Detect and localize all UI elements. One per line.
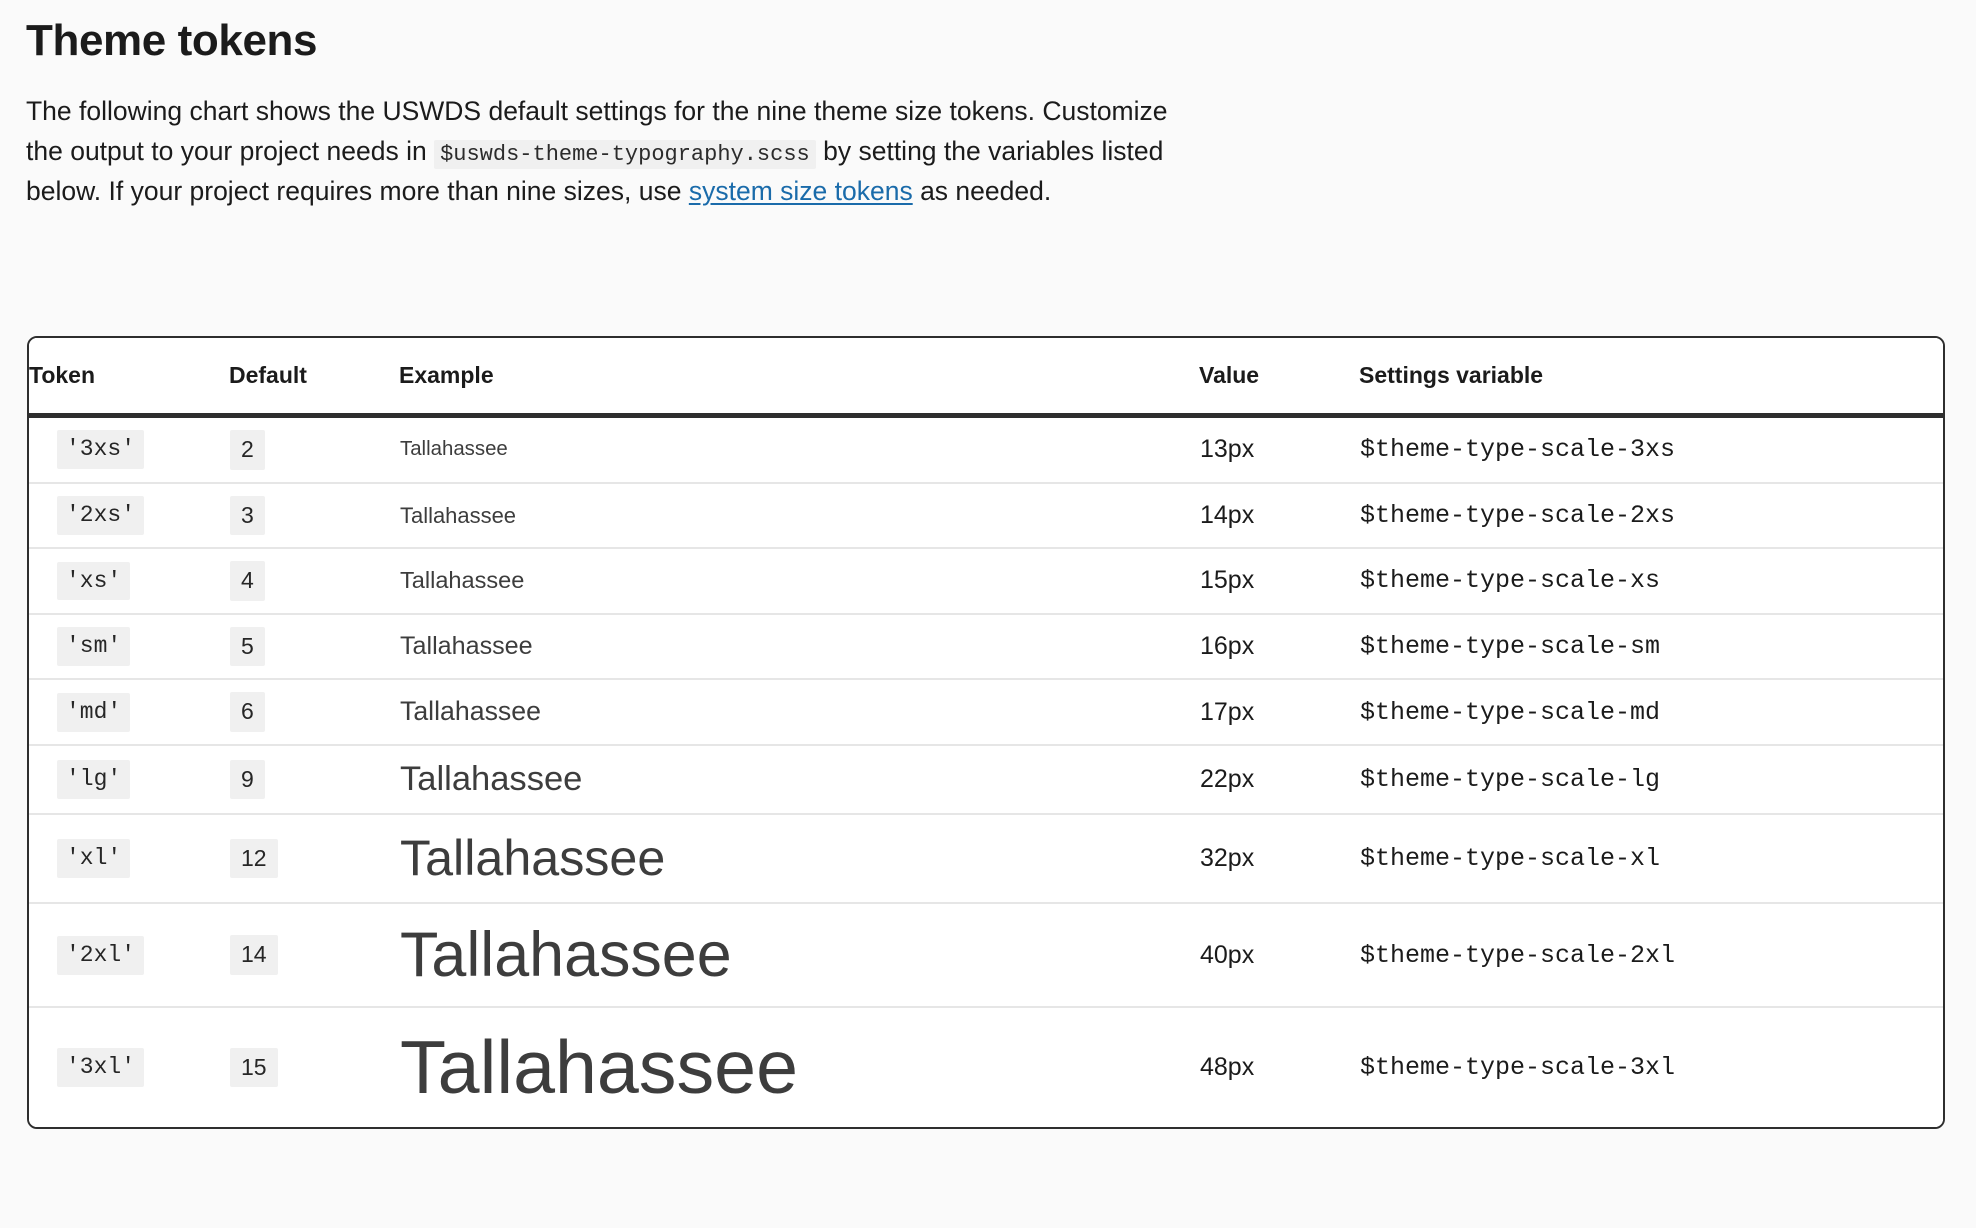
cell-token: '2xl': [29, 903, 229, 1007]
settings-variable-text: $theme-type-scale-md: [1360, 698, 1660, 727]
cell-example: Tallahassee: [399, 483, 1199, 549]
token-chip: '2xl': [57, 936, 144, 975]
example-sample-text: Tallahassee: [400, 1025, 798, 1109]
example-sample-text: Tallahassee: [400, 632, 533, 660]
default-chip: 2: [230, 430, 265, 470]
value-text: 48px: [1200, 1053, 1254, 1081]
cell-token: 'xl': [29, 814, 229, 903]
settings-variable-text: $theme-type-scale-xs: [1360, 566, 1660, 595]
cell-token: '2xs': [29, 483, 229, 549]
cell-value: 32px: [1199, 814, 1359, 903]
example-sample-text: Tallahassee: [400, 438, 508, 460]
default-chip: 15: [230, 1048, 278, 1088]
value-text: 13px: [1200, 435, 1254, 463]
cell-token: 'lg': [29, 745, 229, 814]
default-chip: 12: [230, 839, 278, 879]
table-header-row: Token Default Example Value Settings var…: [29, 338, 1943, 416]
default-chip: 14: [230, 935, 278, 975]
settings-variable-text: $theme-type-scale-lg: [1360, 765, 1660, 794]
token-chip: '2xs': [57, 496, 144, 535]
settings-variable-text: $theme-type-scale-3xs: [1360, 435, 1675, 464]
cell-settings-variable: $theme-type-scale-3xs: [1359, 416, 1943, 483]
cell-example: Tallahassee: [399, 814, 1199, 903]
cell-value: 16px: [1199, 614, 1359, 680]
cell-default: 15: [229, 1007, 399, 1126]
cell-settings-variable: $theme-type-scale-2xl: [1359, 903, 1943, 1007]
cell-settings-variable: $theme-type-scale-lg: [1359, 745, 1943, 814]
cell-value: 14px: [1199, 483, 1359, 549]
theme-tokens-table: Token Default Example Value Settings var…: [29, 338, 1943, 1127]
column-header-example: Example: [399, 338, 1199, 416]
table-row: '3xl'15Tallahassee48px$theme-type-scale-…: [29, 1007, 1943, 1126]
cell-token: 'md': [29, 679, 229, 745]
intro-text-part3: as needed.: [913, 176, 1052, 206]
token-chip: 'md': [57, 693, 130, 732]
table-row: 'xl'12Tallahassee32px$theme-type-scale-x…: [29, 814, 1943, 903]
cell-settings-variable: $theme-type-scale-sm: [1359, 614, 1943, 680]
token-chip: 'lg': [57, 760, 130, 799]
default-chip: 3: [230, 496, 265, 536]
table-row: 'md'6Tallahassee17px$theme-type-scale-md: [29, 679, 1943, 745]
cell-example: Tallahassee: [399, 416, 1199, 483]
cell-example: Tallahassee: [399, 903, 1199, 1007]
cell-default: 3: [229, 483, 399, 549]
column-header-settings-variable: Settings variable: [1359, 338, 1943, 416]
table-row: '2xs'3Tallahassee14px$theme-type-scale-2…: [29, 483, 1943, 549]
cell-example: Tallahassee: [399, 1007, 1199, 1126]
cell-settings-variable: $theme-type-scale-2xs: [1359, 483, 1943, 549]
cell-default: 2: [229, 416, 399, 483]
page-title: Theme tokens: [0, 0, 1976, 67]
cell-token: 'xs': [29, 548, 229, 614]
settings-variable-text: $theme-type-scale-3xl: [1360, 1053, 1675, 1082]
value-text: 22px: [1200, 765, 1254, 793]
cell-value: 40px: [1199, 903, 1359, 1007]
value-text: 15px: [1200, 566, 1254, 594]
cell-token: 'sm': [29, 614, 229, 680]
cell-example: Tallahassee: [399, 679, 1199, 745]
settings-variable-text: $theme-type-scale-xl: [1360, 844, 1660, 873]
column-header-value: Value: [1199, 338, 1359, 416]
token-chip: 'xs': [57, 562, 130, 601]
token-chip: 'sm': [57, 627, 130, 666]
value-text: 40px: [1200, 941, 1254, 969]
settings-variable-text: $theme-type-scale-2xl: [1360, 941, 1675, 970]
token-chip: 'xl': [57, 839, 130, 878]
example-sample-text: Tallahassee: [400, 696, 541, 726]
example-sample-text: Tallahassee: [400, 567, 524, 593]
cell-default: 6: [229, 679, 399, 745]
cell-value: 13px: [1199, 416, 1359, 483]
cell-default: 14: [229, 903, 399, 1007]
cell-value: 22px: [1199, 745, 1359, 814]
cell-settings-variable: $theme-type-scale-xs: [1359, 548, 1943, 614]
value-text: 17px: [1200, 698, 1254, 726]
token-chip: '3xl': [57, 1048, 144, 1087]
example-sample-text: Tallahassee: [400, 830, 665, 886]
cell-value: 17px: [1199, 679, 1359, 745]
cell-settings-variable: $theme-type-scale-xl: [1359, 814, 1943, 903]
value-text: 16px: [1200, 632, 1254, 660]
cell-example: Tallahassee: [399, 614, 1199, 680]
settings-variable-text: $theme-type-scale-sm: [1360, 632, 1660, 661]
cell-default: 12: [229, 814, 399, 903]
value-text: 32px: [1200, 844, 1254, 872]
table-row: 'sm'5Tallahassee16px$theme-type-scale-sm: [29, 614, 1943, 680]
table-row: '3xs'2Tallahassee13px$theme-type-scale-3…: [29, 416, 1943, 483]
table-body: '3xs'2Tallahassee13px$theme-type-scale-3…: [29, 416, 1943, 1127]
default-chip: 4: [230, 561, 265, 601]
default-chip: 5: [230, 627, 265, 667]
default-chip: 9: [230, 760, 265, 800]
table-header: Token Default Example Value Settings var…: [29, 338, 1943, 416]
system-size-tokens-link[interactable]: system size tokens: [689, 176, 913, 206]
cell-default: 5: [229, 614, 399, 680]
cell-value: 15px: [1199, 548, 1359, 614]
cell-value: 48px: [1199, 1007, 1359, 1126]
cell-token: '3xs': [29, 416, 229, 483]
cell-default: 4: [229, 548, 399, 614]
theme-tokens-table-container: Token Default Example Value Settings var…: [27, 336, 1945, 1129]
code-chip-typography-scss: $uswds-theme-typography.scss: [434, 140, 816, 169]
example-sample-text: Tallahassee: [400, 503, 516, 528]
cell-token: '3xl': [29, 1007, 229, 1126]
cell-settings-variable: $theme-type-scale-3xl: [1359, 1007, 1943, 1126]
column-header-default: Default: [229, 338, 399, 416]
table-row: 'lg'9Tallahassee22px$theme-type-scale-lg: [29, 745, 1943, 814]
example-sample-text: Tallahassee: [400, 920, 732, 990]
token-chip: '3xs': [57, 430, 144, 469]
cell-settings-variable: $theme-type-scale-md: [1359, 679, 1943, 745]
value-text: 14px: [1200, 501, 1254, 529]
table-row: 'xs'4Tallahassee15px$theme-type-scale-xs: [29, 548, 1943, 614]
settings-variable-text: $theme-type-scale-2xs: [1360, 501, 1675, 530]
example-sample-text: Tallahassee: [400, 760, 582, 798]
default-chip: 6: [230, 692, 265, 732]
table-row: '2xl'14Tallahassee40px$theme-type-scale-…: [29, 903, 1943, 1007]
cell-example: Tallahassee: [399, 548, 1199, 614]
cell-example: Tallahassee: [399, 745, 1199, 814]
theme-tokens-page: Theme tokens The following chart shows t…: [0, 0, 1976, 1228]
cell-default: 9: [229, 745, 399, 814]
intro-paragraph: The following chart shows the USWDS defa…: [0, 67, 1210, 212]
column-header-token: Token: [29, 338, 229, 416]
